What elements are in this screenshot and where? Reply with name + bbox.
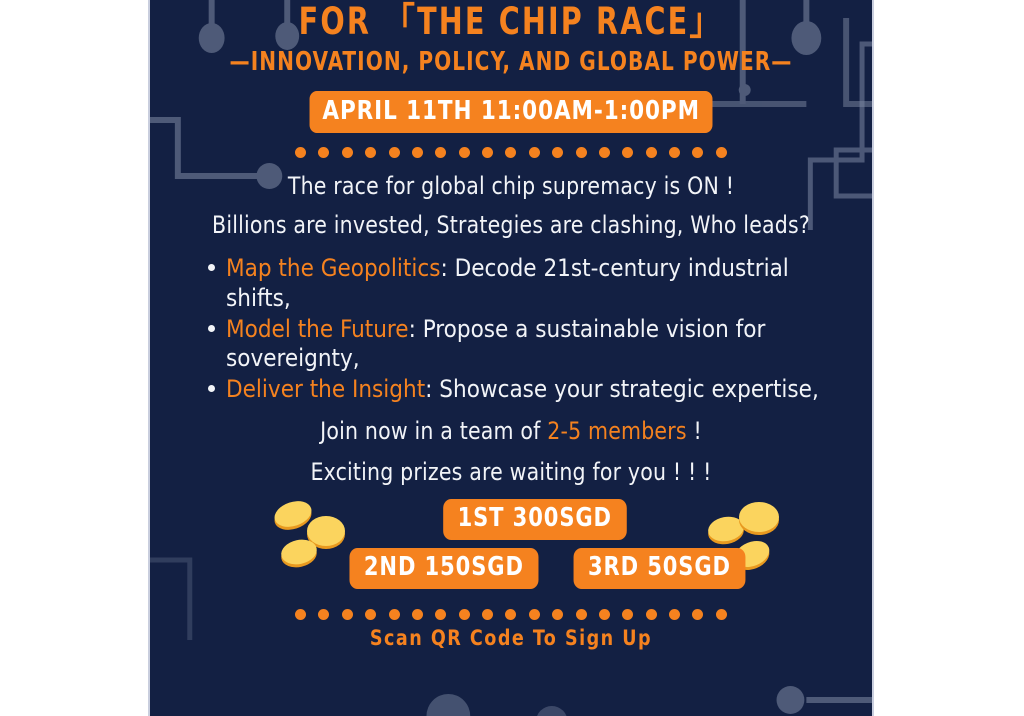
prize-badge-first: 1ST 300SGD <box>443 499 626 540</box>
challenge-bullet-item: Model the Future: Propose a sustainable … <box>226 315 848 374</box>
divider-dot <box>669 147 680 158</box>
challenge-bullet-item: Deliver the Insight: Showcase your strat… <box>226 375 848 404</box>
divider-dot <box>505 609 516 620</box>
bullet-marker <box>208 264 215 271</box>
divider-dot <box>412 147 423 158</box>
divider-dot <box>295 147 306 158</box>
join-line: Join now in a team of 2-5 members ! <box>181 417 840 446</box>
challenge-bullet-item: Map the Geopolitics: Decode 21st-century… <box>226 254 848 313</box>
divider-dot <box>646 147 657 158</box>
divider-dot <box>576 147 587 158</box>
divider-dot <box>482 609 493 620</box>
bullet-lead-text: Map the Geopolitics <box>226 254 440 282</box>
prize-badge-second: 2ND 150SGD <box>349 548 538 589</box>
divider-dot <box>552 609 563 620</box>
divider-dot <box>435 147 446 158</box>
join-prefix: Join now in a team of <box>320 417 547 445</box>
divider-dot <box>482 147 493 158</box>
intro-line-2: Billions are invested, Strategies are cl… <box>181 211 840 240</box>
divider-dot <box>669 609 680 620</box>
bullet-marker <box>208 385 215 392</box>
divider-dot <box>692 147 703 158</box>
divider-dot <box>576 609 587 620</box>
divider-dot <box>342 147 353 158</box>
divider-dot <box>622 147 633 158</box>
divider-dot <box>716 147 727 158</box>
date-pill-wrapper: APRIL 11TH 11:00AM-1:00PM <box>164 91 858 133</box>
circuit-node <box>426 694 470 716</box>
divider-dot <box>692 609 703 620</box>
divider-dot <box>389 147 400 158</box>
headline-block: HACKATHON FOR 「THE CHIP RACE」 —INNOVATIO… <box>164 0 858 76</box>
divider-dot <box>389 609 400 620</box>
divider-dot <box>365 609 376 620</box>
poster-content: HACKATHON FOR 「THE CHIP RACE」 —INNOVATIO… <box>150 0 872 690</box>
divider-dot <box>529 609 540 620</box>
join-suffix: ! <box>687 417 702 445</box>
divider-dot <box>529 147 540 158</box>
divider-dot <box>435 609 446 620</box>
prize-badges-zone: 1ST 300SGD 2ND 150SGD 3RD 50SGD <box>164 493 858 601</box>
divider-dot <box>459 609 470 620</box>
event-poster: HACKATHON FOR 「THE CHIP RACE」 —INNOVATIO… <box>148 0 874 716</box>
divider-dot <box>716 609 727 620</box>
coins-icon-left <box>269 499 349 579</box>
title-event-name: FOR 「THE CHIP RACE」 <box>213 4 810 40</box>
divider-dot <box>318 147 329 158</box>
circuit-node <box>536 706 568 716</box>
join-team-size: 2-5 members <box>547 417 686 445</box>
bullet-lead-text: Deliver the Insight <box>226 375 425 403</box>
event-date-badge: APRIL 11TH 11:00AM-1:00PM <box>309 91 712 133</box>
divider-dot <box>295 609 306 620</box>
dot-divider-bottom <box>295 609 727 620</box>
screenshot-canvas: HACKATHON FOR 「THE CHIP RACE」 —INNOVATIO… <box>0 0 1024 716</box>
circuit-node <box>777 686 805 714</box>
divider-dot <box>412 609 423 620</box>
divider-dot <box>318 609 329 620</box>
divider-dot <box>599 147 610 158</box>
dot-divider-top <box>295 147 727 158</box>
scan-qr-cta: Scan QR Code To Sign Up <box>188 626 833 650</box>
divider-dot <box>646 609 657 620</box>
prizes-teaser: Exciting prizes are waiting for you ! ! … <box>181 458 840 487</box>
divider-dot <box>505 147 516 158</box>
bullet-body-text: : Showcase your strategic expertise, <box>425 375 819 403</box>
bullet-marker <box>208 325 215 332</box>
divider-dot <box>599 609 610 620</box>
bullet-lead-text: Model the Future <box>226 315 409 343</box>
prize-badge-third: 3RD 50SGD <box>574 548 746 589</box>
title-subtitle: —INNOVATION, POLICY, AND GLOBAL POWER— <box>213 50 810 75</box>
divider-dot <box>365 147 376 158</box>
divider-dot <box>459 147 470 158</box>
divider-dot <box>622 609 633 620</box>
divider-dot <box>552 147 563 158</box>
divider-dot <box>342 609 353 620</box>
challenge-bullet-list: Map the Geopolitics: Decode 21st-century… <box>164 254 858 404</box>
intro-line-1: The race for global chip supremacy is ON… <box>181 172 840 201</box>
